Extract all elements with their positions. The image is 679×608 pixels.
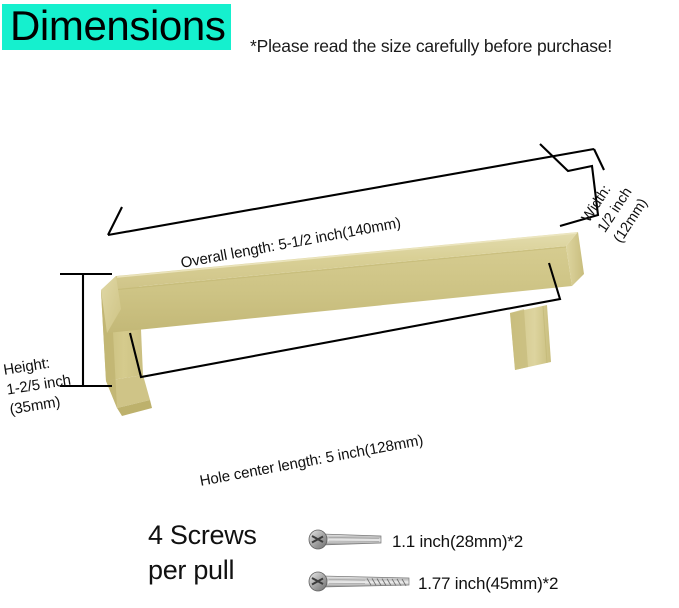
overall-length-tick-right (594, 149, 604, 170)
cabinet-pull-illustration (101, 232, 584, 416)
header: Dimensions *Please read the size careful… (0, 0, 679, 78)
screws-subtitle: per pull (148, 555, 234, 586)
screws-title: 4 Screws (148, 520, 257, 551)
header-highlight-block: Dimensions (2, 4, 231, 50)
diagram-canvas (0, 78, 679, 508)
screw-label-short: 1.1 inch(28mm)*2 (392, 532, 523, 552)
header-note: *Please read the size carefully before p… (250, 36, 612, 57)
product-diagram: Overall length: 5-1/2 inch(140mm) Hole c… (0, 78, 679, 508)
overall-length-tick-left (108, 207, 122, 235)
screw-icon-short (305, 526, 389, 552)
screw-label-long: 1.77 inch(45mm)*2 (418, 574, 558, 594)
page-title: Dimensions (10, 5, 225, 47)
dimensions-infographic: Dimensions *Please read the size careful… (0, 0, 679, 608)
screw-icon-long (305, 568, 417, 594)
height-label: Height: 1-2/5 inch (35mm) (2, 351, 75, 420)
screws-section: 4 Screws per pull (0, 508, 679, 608)
